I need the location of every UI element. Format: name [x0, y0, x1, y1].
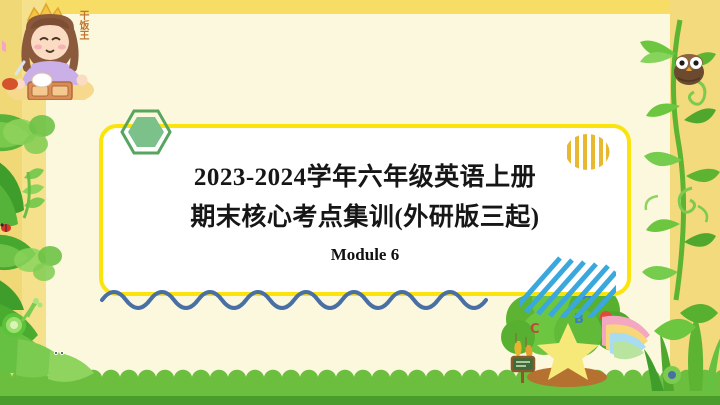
title-line-1: 2023-2024学年六年级英语上册: [194, 158, 536, 198]
gold-striped-oval-icon: [565, 133, 610, 171]
title-line-2: 期末核心考点集训(外研版三起): [190, 198, 539, 238]
grass-dark-band: [0, 396, 720, 405]
right-bush-illustration: [644, 273, 720, 393]
slide-canvas: 干饭王 A B C: [0, 0, 720, 405]
svg-text:C: C: [530, 322, 540, 337]
green-hexagon-icon: [120, 108, 172, 156]
girl-caption-text: 干饭王: [68, 10, 88, 40]
module-label: Module 6: [331, 242, 399, 268]
blue-diagonal-stripes-icon: [520, 238, 616, 318]
owl-illustration: [668, 48, 710, 88]
blue-sine-wave-icon: [100, 280, 490, 314]
